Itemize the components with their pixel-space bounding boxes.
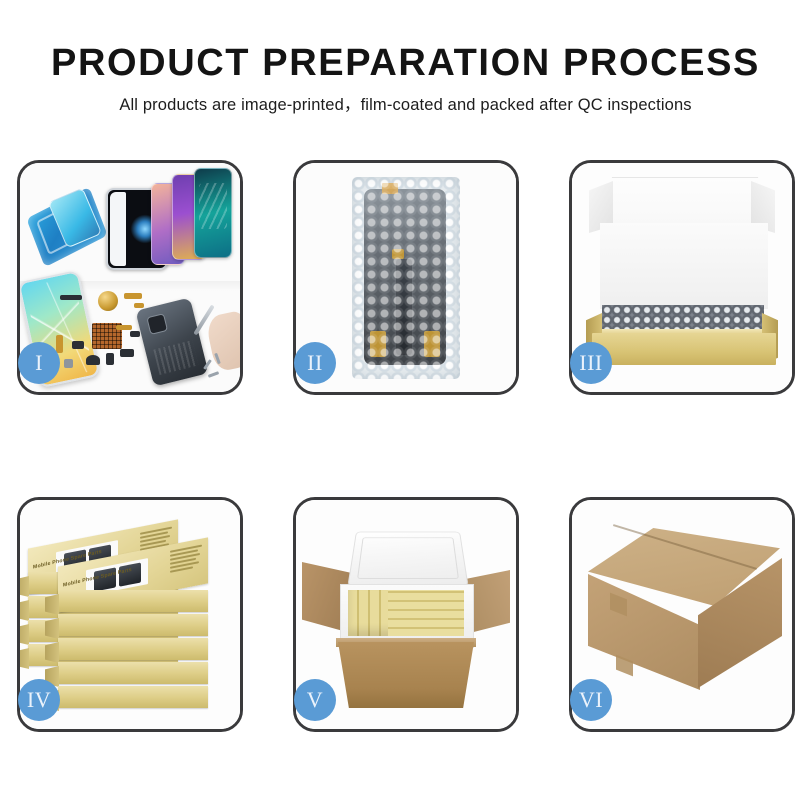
page-title: PRODUCT PREPARATION PROCESS — [0, 44, 811, 82]
process-step-card-5[interactable]: V — [293, 497, 519, 732]
step-badge-5: V — [294, 679, 336, 721]
step-badge-1: I — [18, 342, 60, 384]
process-step-card-2[interactable]: II — [293, 160, 519, 395]
step-badge-3: III — [570, 342, 612, 384]
process-step-card-1[interactable]: I — [17, 160, 243, 395]
page-subtitle: All products are image-printed，film-coat… — [0, 97, 811, 114]
process-step-card-4[interactable]: Mobile Phone Spare Parts Mobile Phone Sp… — [17, 497, 243, 732]
process-step-card-3[interactable]: III — [569, 160, 795, 395]
step-badge-4: IV — [18, 679, 60, 721]
process-step-card-6[interactable]: VI — [569, 497, 795, 732]
header: PRODUCT PREPARATION PROCESS All products… — [0, 0, 811, 114]
process-steps-grid: I II — [17, 160, 795, 732]
step-badge-2: II — [294, 342, 336, 384]
step-badge-6: VI — [570, 679, 612, 721]
